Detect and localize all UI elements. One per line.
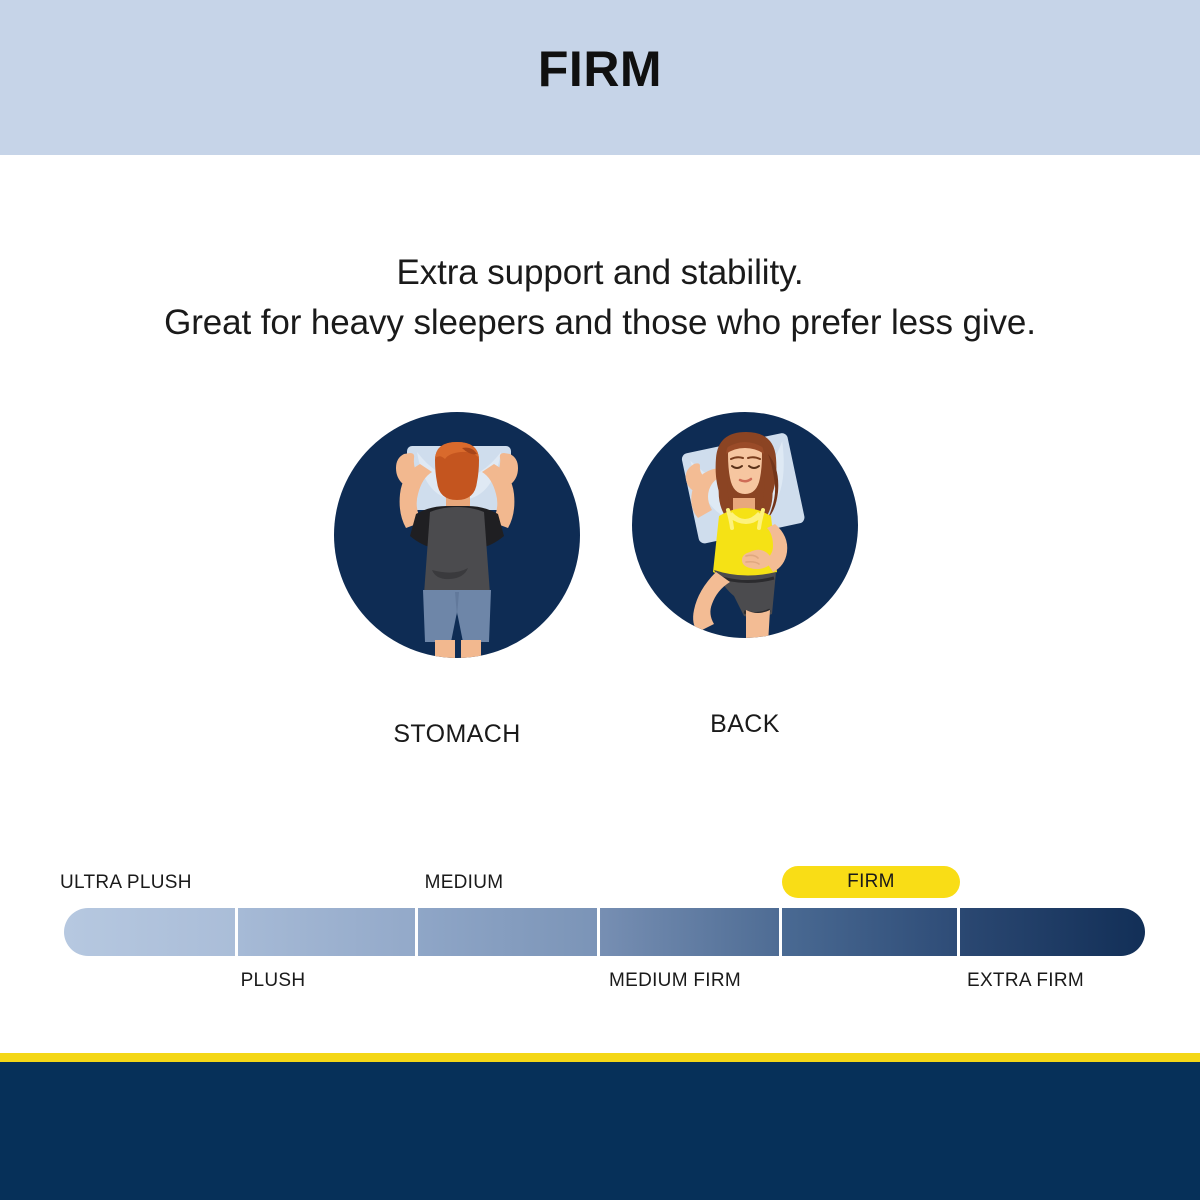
firmness-infographic: FIRM Extra support and stability. Great … — [0, 0, 1200, 1200]
scale-segment-firm[interactable] — [782, 908, 957, 956]
footer-accent-stripe — [0, 1053, 1200, 1062]
scale-segment-medium[interactable] — [418, 908, 597, 956]
firmness-scale: ULTRA PLUSH MEDIUM FIRM PLUSH MEDIUM FIR… — [0, 860, 1200, 1010]
scale-label-extra-firm: EXTRA FIRM — [960, 970, 1091, 992]
footer-band: Serta ® — [0, 1062, 1200, 1200]
scale-segment-plush[interactable] — [238, 908, 415, 956]
page-title: FIRM — [0, 44, 1200, 94]
sleep-position-stomach: STOMACH — [334, 412, 580, 749]
back-sleeper-icon — [632, 412, 858, 638]
sleep-positions: STOMACH — [0, 412, 1200, 757]
firmness-scale-bar[interactable] — [64, 908, 1145, 956]
sleep-position-label-stomach: STOMACH — [334, 720, 580, 749]
subtitle-line-1: Extra support and stability. — [0, 248, 1200, 298]
subtitle-line-2: Great for heavy sleepers and those who p… — [0, 298, 1200, 348]
scale-label-medium-firm: MEDIUM FIRM — [600, 970, 750, 992]
scale-segment-medium-firm[interactable] — [600, 908, 779, 956]
sleep-position-back: BACK — [632, 412, 858, 739]
scale-segment-extra-firm[interactable] — [960, 908, 1145, 956]
scale-selected-badge-firm[interactable]: FIRM — [782, 866, 960, 898]
subtitle: Extra support and stability. Great for h… — [0, 248, 1200, 347]
scale-label-plush: PLUSH — [237, 970, 309, 992]
scale-label-ultra-plush: ULTRA PLUSH — [60, 872, 192, 894]
scale-label-medium: MEDIUM — [418, 872, 510, 894]
sleep-position-label-back: BACK — [632, 710, 858, 739]
stomach-sleeper-icon — [334, 412, 580, 658]
scale-segment-ultra-plush[interactable] — [64, 908, 235, 956]
